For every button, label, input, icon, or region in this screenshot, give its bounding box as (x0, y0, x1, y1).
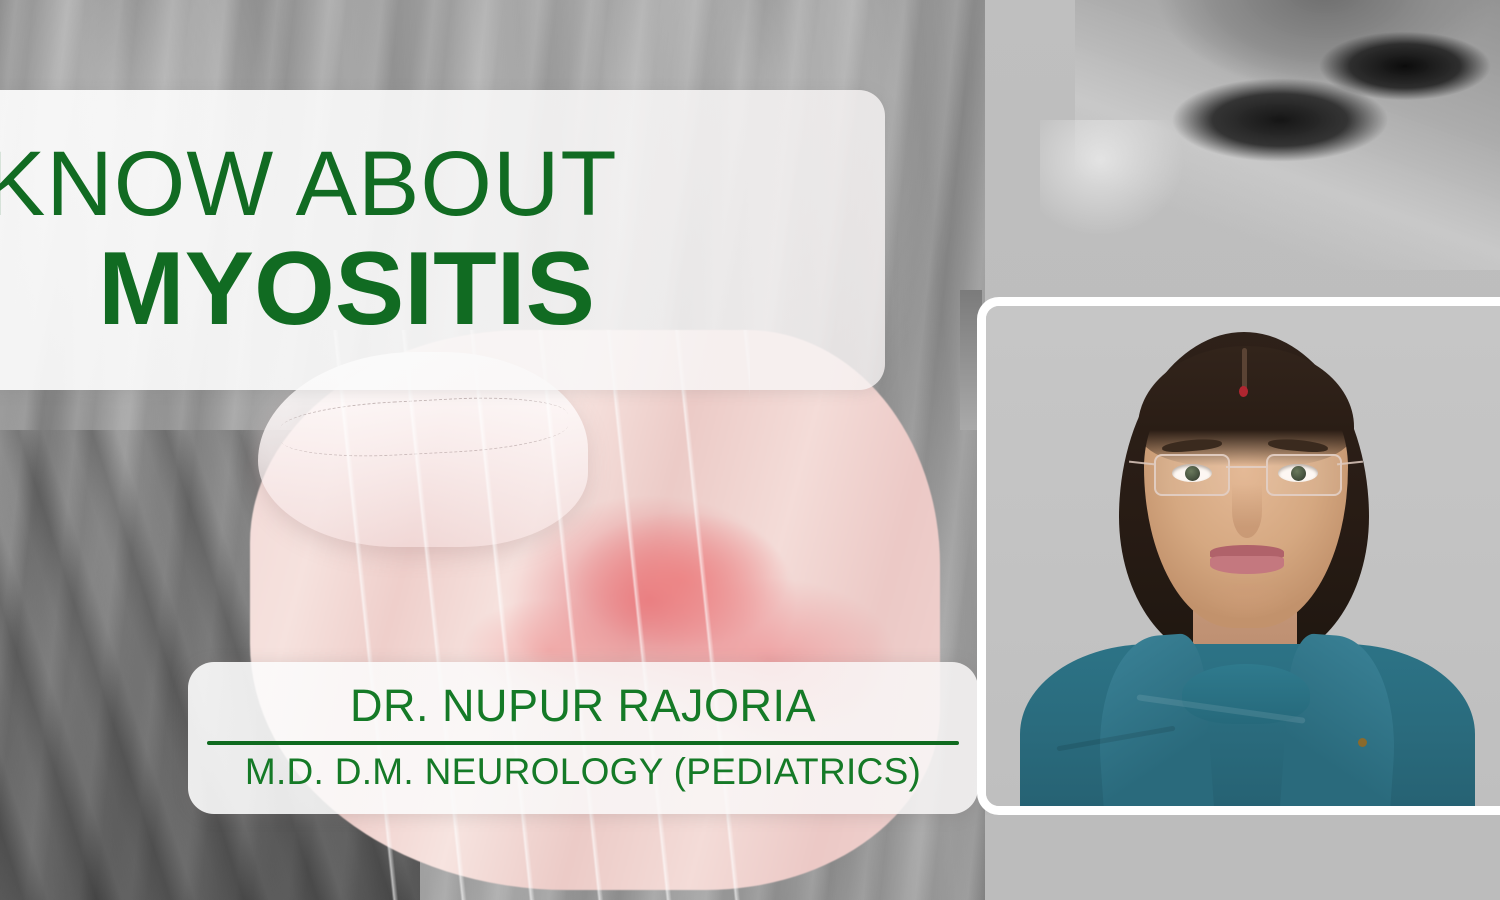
doctor-degrees: M.D. D.M. NEUROLOGY (PEDIATRICS) (245, 753, 921, 792)
portrait-bindi (1239, 386, 1248, 397)
portrait-nose (1232, 484, 1262, 538)
background-light-streaks (330, 330, 750, 900)
title-banner: KNOW ABOUT MYOSITIS (0, 90, 885, 390)
portrait-hair-part (1242, 348, 1247, 390)
background-bottom-gap (985, 815, 1500, 900)
portrait-glasses-bridge (1226, 466, 1266, 468)
doctor-portrait (986, 306, 1500, 806)
portrait-lens-left (1154, 454, 1230, 496)
doctor-photo-card (977, 297, 1500, 815)
doctor-name: DR. NUPUR RAJORIA (350, 682, 816, 731)
title-line-myositis: MYOSITIS (98, 237, 885, 341)
portrait-lens-right (1266, 454, 1342, 496)
portrait-lip-lower (1210, 556, 1284, 574)
portrait-jacket-zipper (1358, 738, 1367, 747)
name-divider (207, 741, 959, 745)
portrait-chin (1204, 584, 1290, 618)
background-face-highlight (1040, 120, 1240, 310)
thumbnail-canvas: KNOW ABOUT MYOSITIS DR. NUPUR RAJORIA M.… (0, 0, 1500, 900)
doctor-name-banner: DR. NUPUR RAJORIA M.D. D.M. NEUROLOGY (P… (188, 662, 978, 814)
title-line-know-about: KNOW ABOUT (0, 139, 885, 229)
